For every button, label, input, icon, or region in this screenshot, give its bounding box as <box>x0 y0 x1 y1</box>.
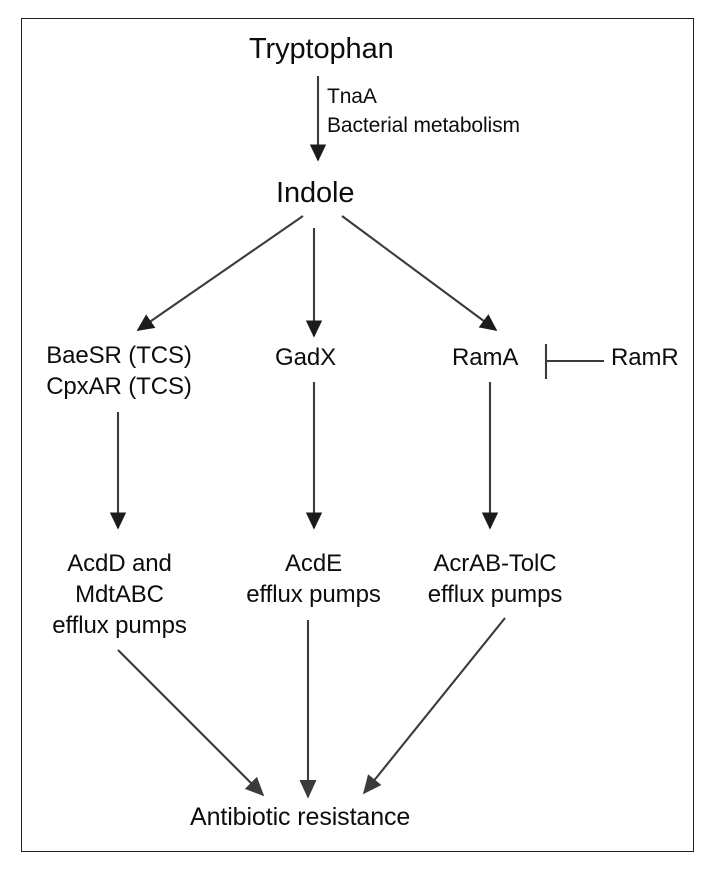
connector-ramr-inhibits-rama <box>546 344 604 379</box>
edge-label-tnaa: TnaA <box>327 85 377 109</box>
node-rama: RamA <box>452 344 518 372</box>
arrow-indole-to-baesr-cpxar <box>138 216 303 330</box>
node-acde-line-2: efflux pumps <box>232 579 395 610</box>
node-acrab-line-1: AcrAB-TolC <box>400 548 590 579</box>
node-cpxar-label: CpxAR (TCS) <box>30 371 208 402</box>
node-acrab-tolc-efflux-pumps: AcrAB-TolC efflux pumps <box>400 548 590 610</box>
node-acdd-line-2: MdtABC <box>22 579 217 610</box>
arrow-acrab-tolc-to-resistance <box>364 618 505 793</box>
node-ramr: RamR <box>611 344 679 372</box>
node-tryptophan: Tryptophan <box>249 32 394 66</box>
node-acrab-line-2: efflux pumps <box>400 579 590 610</box>
node-acde-line-1: AcdE <box>232 548 395 579</box>
node-acdd-mdtabc-efflux-pumps: AcdD and MdtABC efflux pumps <box>22 548 217 642</box>
node-indole: Indole <box>276 176 354 210</box>
edge-label-bacterial-metabolism: Bacterial metabolism <box>327 114 520 138</box>
node-acdd-line-3: efflux pumps <box>22 610 217 641</box>
node-acde-efflux-pumps: AcdE efflux pumps <box>232 548 395 610</box>
node-antibiotic-resistance: Antibiotic resistance <box>190 803 410 833</box>
node-gadx: GadX <box>275 344 336 372</box>
figure-root: Tryptophan TnaA Bacterial metabolism Ind… <box>0 0 713 874</box>
node-acdd-line-1: AcdD and <box>22 548 217 579</box>
arrow-indole-to-rama <box>342 216 496 330</box>
node-baesr-cpxar: BaeSR (TCS) CpxAR (TCS) <box>30 340 208 402</box>
node-baesr-label: BaeSR (TCS) <box>30 340 208 371</box>
arrow-acdd-mdtabc-to-resistance <box>118 650 263 795</box>
